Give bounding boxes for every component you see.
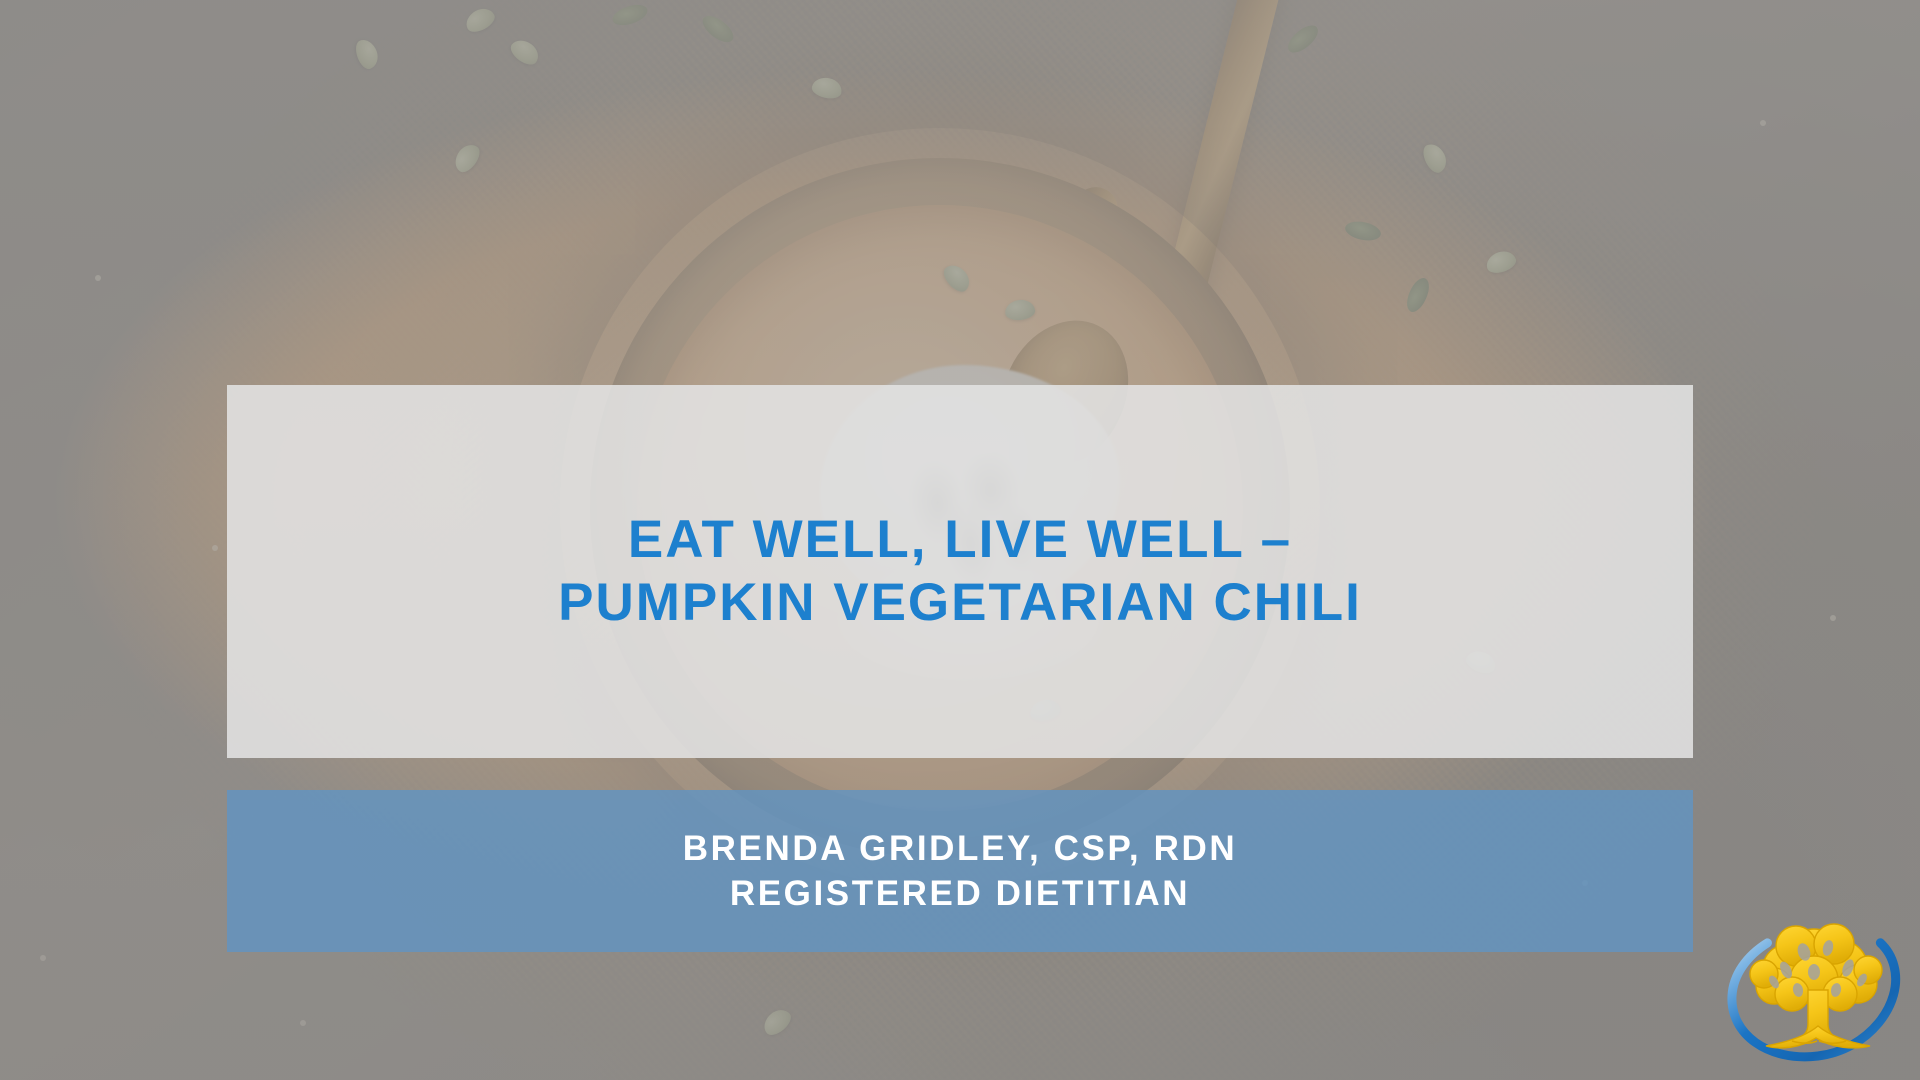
presenter-info: BRENDA GRIDLEY, CSP, RDN REGISTERED DIET… bbox=[227, 790, 1693, 952]
tree-logo bbox=[1718, 908, 1918, 1080]
page-title: EAT WELL, LIVE WELL – PUMPKIN VEGETARIAN… bbox=[227, 385, 1693, 758]
title-line-1: EAT WELL, LIVE WELL – bbox=[628, 509, 1292, 572]
tree-roots bbox=[1766, 1026, 1870, 1048]
presenter-role: REGISTERED DIETITIAN bbox=[730, 871, 1190, 917]
presenter-name: BRENDA GRIDLEY, CSP, RDN bbox=[683, 826, 1237, 872]
slide-canvas: EAT WELL, LIVE WELL – PUMPKIN VEGETARIAN… bbox=[0, 0, 1920, 1080]
title-line-2: PUMPKIN VEGETARIAN CHILI bbox=[558, 572, 1362, 635]
